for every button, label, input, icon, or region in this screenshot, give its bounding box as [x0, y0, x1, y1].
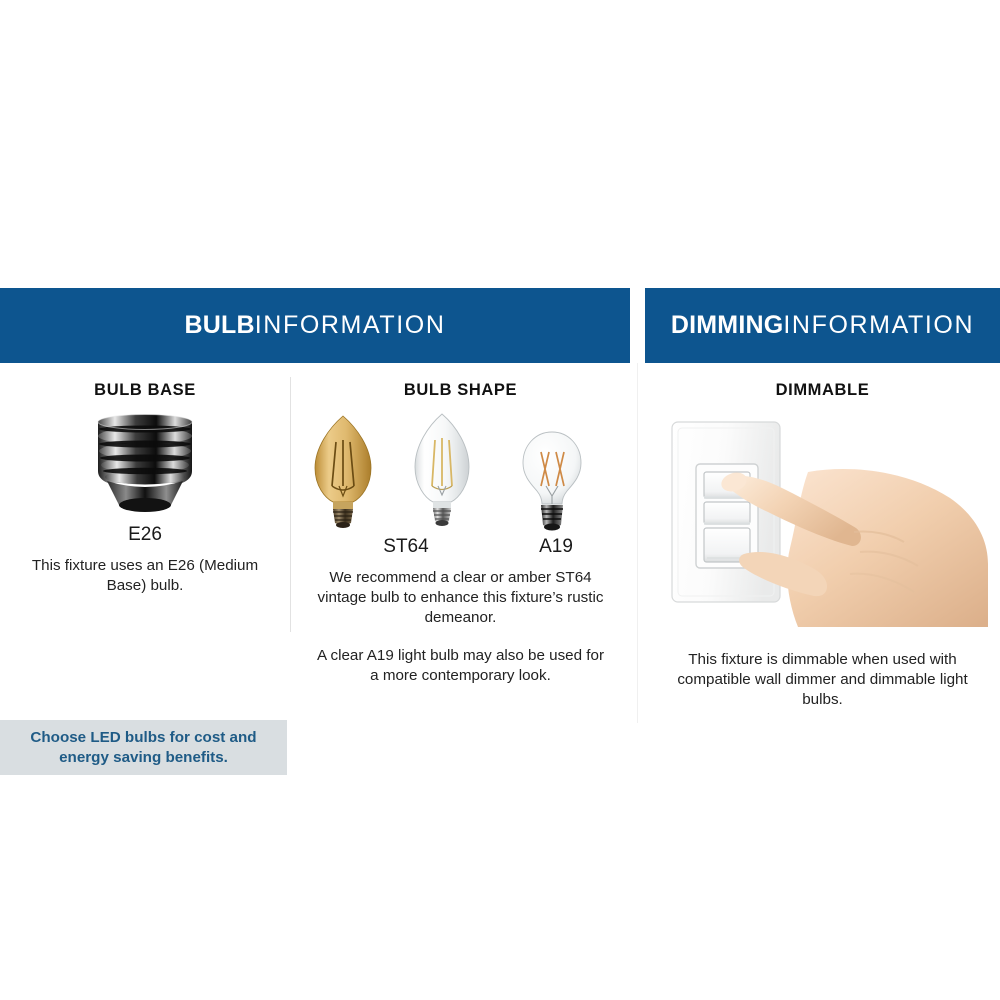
dimming-information-title: DIMMINGINFORMATION [671, 313, 974, 338]
bulb-shape-description-1: We recommend a clear or amber ST64 vinta… [316, 568, 606, 629]
bulb-shape-labels: ST64 A19 [291, 532, 630, 558]
bulb-label-st64: ST64 [346, 536, 466, 558]
bulb-shape-illustrations [291, 412, 630, 532]
dimming-information-title-strong: DIMMING [671, 311, 784, 339]
dimmable-description: This fixture is dimmable when used with … [673, 650, 973, 711]
bulb-information-header: BULBINFORMATION [0, 288, 630, 363]
led-callout-text: Choose LED bulbs for cost and energy sav… [19, 728, 269, 768]
dimmable-title: DIMMABLE [645, 381, 1000, 400]
bulb-base-title: BULB BASE [0, 381, 290, 400]
bulb-base-column: BULB BASE [0, 363, 290, 596]
bulb-label-a19: A19 [496, 536, 616, 558]
bulb-base-caption: E26 [0, 524, 290, 546]
clear-a19-bulb-icon [513, 428, 591, 538]
dimming-information-panel: DIMMINGINFORMATION DIMMABLE [645, 288, 1000, 725]
bulb-information-panel: BULBINFORMATION BULB BASE [0, 288, 630, 725]
led-callout-box: Choose LED bulbs for cost and energy sav… [0, 720, 287, 775]
e26-screw-base-icon [90, 413, 200, 515]
bulb-information-body: BULB BASE [0, 363, 630, 725]
bulb-information-title-strong: BULB [185, 311, 255, 339]
bulb-information-title-rest: INFORMATION [255, 311, 446, 339]
bulb-shape-title: BULB SHAPE [291, 381, 630, 400]
bulb-shape-column: BULB SHAPE [291, 363, 630, 686]
bulb-base-description: This fixture uses an E26 (Medium Base) b… [25, 556, 265, 596]
panel-seam-divider [637, 363, 638, 723]
clear-st64-bulb-icon [399, 410, 485, 530]
dimming-information-header: DIMMINGINFORMATION [645, 288, 1000, 363]
bulb-dimming-infographic: BULBINFORMATION BULB BASE [0, 0, 1000, 1000]
amber-st64-bulb-icon [299, 412, 387, 532]
wall-dimmer-switch-with-hand-icon [658, 412, 988, 627]
bulb-information-title: BULBINFORMATION [185, 313, 446, 338]
dimming-information-title-rest: INFORMATION [783, 311, 974, 339]
dimming-information-body: DIMMABLE [645, 363, 1000, 725]
bulb-shape-description-2: A clear A19 light bulb may also be used … [316, 646, 606, 686]
dimmable-column: DIMMABLE [645, 363, 1000, 711]
